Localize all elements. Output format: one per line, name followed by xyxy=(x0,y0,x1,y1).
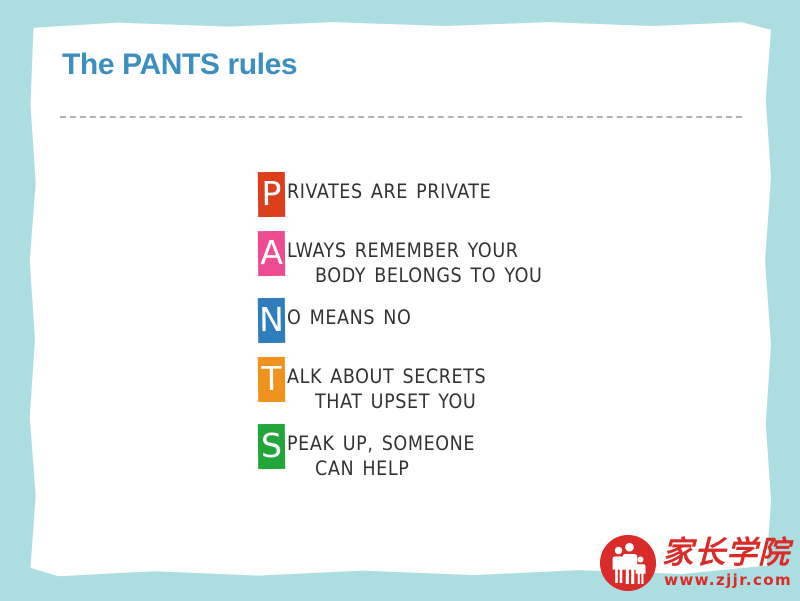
list-item: T ALK ABOUT SECRETS THAT UPSET YOU xyxy=(258,357,698,414)
watermark-brand-name: 家长学院 xyxy=(662,538,790,569)
rule-line-1: ALK ABOUT SECRETS xyxy=(287,364,698,389)
letter-tile-n: N xyxy=(258,298,285,343)
rule-text-a: LWAYS REMEMBER YOUR BODY BELONGS TO YOU xyxy=(287,231,698,288)
list-item: A LWAYS REMEMBER YOUR BODY BELONGS TO YO… xyxy=(258,231,698,288)
watermark-text-block: 家长学院 www.zjjr.com xyxy=(662,538,792,588)
watermark-logo: 家长学院 www.zjjr.com xyxy=(600,529,792,597)
list-item: S PEAK UP, SOMEONE CAN HELP xyxy=(258,424,698,481)
rule-line-1: PEAK UP, SOMEONE xyxy=(287,431,698,456)
pants-rules-list: P RIVATES ARE PRIVATE A LWAYS REMEMBER Y… xyxy=(258,172,698,491)
rule-line-1: O MEANS NO xyxy=(287,305,698,330)
letter-tile-t: T xyxy=(258,357,285,402)
list-item: N O MEANS NO xyxy=(258,298,698,343)
rule-text-n: O MEANS NO xyxy=(287,298,698,330)
rule-text-s: PEAK UP, SOMEONE CAN HELP xyxy=(287,424,698,481)
list-item: P RIVATES ARE PRIVATE xyxy=(258,172,698,217)
rule-text-p: RIVATES ARE PRIVATE xyxy=(287,172,698,204)
letter-tile-s: S xyxy=(258,424,285,469)
divider-dashed-rule xyxy=(60,116,742,118)
rule-line-2: THAT UPSET YOU xyxy=(287,389,698,414)
rule-line-1: RIVATES ARE PRIVATE xyxy=(287,179,698,204)
rule-text-t: ALK ABOUT SECRETS THAT UPSET YOU xyxy=(287,357,698,414)
rule-line-2: BODY BELONGS TO YOU xyxy=(287,263,698,288)
letter-tile-p: P xyxy=(258,172,285,217)
rule-line-1: LWAYS REMEMBER YOUR xyxy=(287,238,698,263)
page-title: The PANTS rules xyxy=(62,48,297,82)
watermark-url: www.zjjr.com xyxy=(664,573,792,588)
slide-canvas: The PANTS rules P RIVATES ARE PRIVATE A … xyxy=(0,0,800,601)
family-figures-icon xyxy=(600,535,656,591)
letter-tile-a: A xyxy=(258,231,285,276)
rule-line-2: CAN HELP xyxy=(287,456,698,481)
